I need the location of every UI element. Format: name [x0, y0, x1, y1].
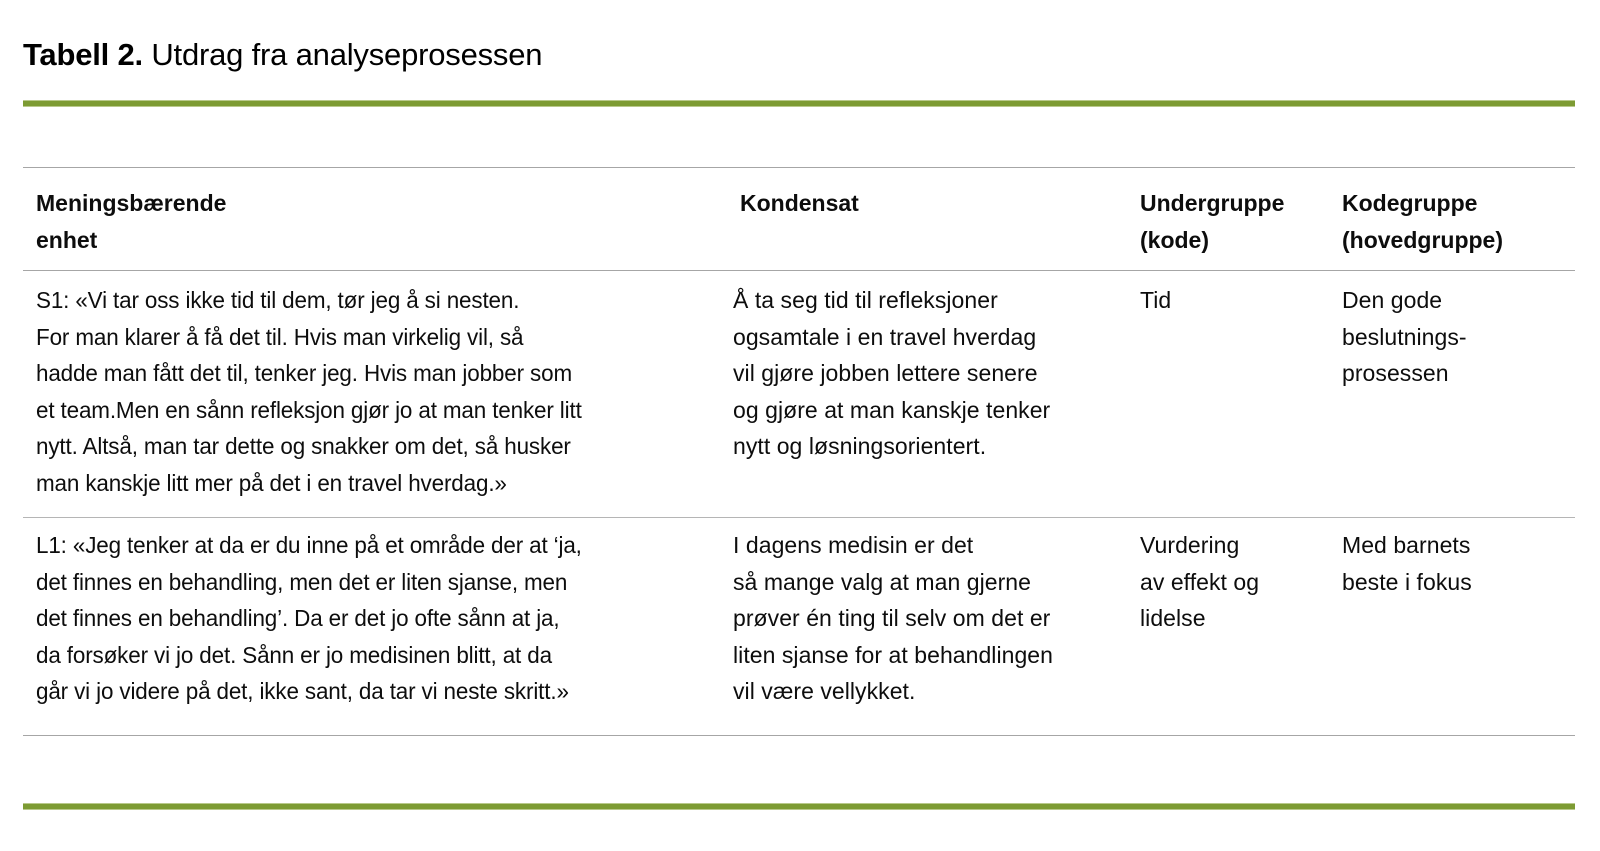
column-header-kondensat: Kondensat: [740, 185, 1140, 222]
cell-undergruppe: Tid: [1140, 282, 1340, 319]
header-bottom-rule: [23, 270, 1575, 271]
bottom-accent-rule: [23, 803, 1575, 810]
cell-kondensat: Å ta seg tid til refleksjoner ogsamtale …: [733, 282, 1133, 465]
top-accent-rule: [23, 100, 1575, 107]
cell-undergruppe: Vurdering av effekt og lidelse: [1140, 527, 1340, 637]
table-caption: Tabell 2. Utdrag fra analyseprosessen: [23, 36, 542, 74]
cell-kondensat: I dagens medisin er det så mange valg at…: [733, 527, 1133, 710]
table-figure-page: Tabell 2. Utdrag fra analyseprosessen Me…: [0, 0, 1600, 851]
column-header-meningsbaerende-enhet: Meningsbærende enhet: [36, 185, 736, 259]
cell-meningsbaerende-enhet: S1: «Vi tar oss ikke tid til dem, tør je…: [36, 282, 705, 501]
cell-kodegruppe: Den gode beslutnings- prosessen: [1342, 282, 1592, 392]
column-header-undergruppe: Undergruppe (kode): [1140, 185, 1340, 259]
table-bottom-rule: [23, 735, 1575, 736]
header-top-rule: [23, 167, 1575, 168]
table-caption-label: Tabell 2.: [23, 37, 143, 72]
cell-kodegruppe: Med barnets beste i fokus: [1342, 527, 1592, 600]
cell-meningsbaerende-enhet: L1: «Jeg tenker at da er du inne på et o…: [36, 527, 705, 710]
row-divider-rule: [23, 517, 1575, 518]
table-caption-text: Utdrag fra analyseprosessen: [151, 37, 542, 72]
column-header-kodegruppe: Kodegruppe (hovedgruppe): [1342, 185, 1592, 259]
